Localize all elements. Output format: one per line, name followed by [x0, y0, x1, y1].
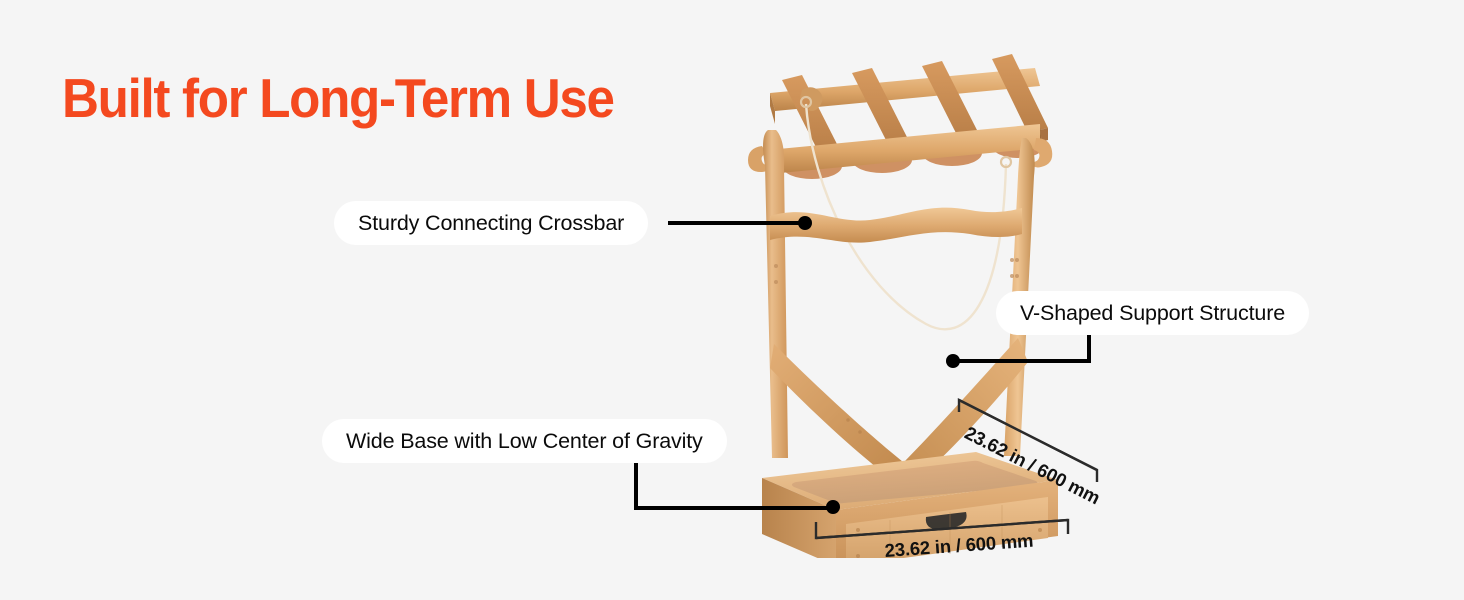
page-title: Built for Long-Term Use — [62, 66, 614, 130]
callout-crossbar[interactable]: Sturdy Connecting Crossbar — [334, 201, 648, 245]
v-support-left — [770, 344, 908, 478]
leader-dot-base — [826, 500, 840, 514]
left-post — [763, 130, 788, 458]
dimension-depth: 23.62 in / 600 mm — [955, 396, 1130, 486]
callout-vsupport-label: V-Shaped Support Structure — [1020, 301, 1285, 326]
leader-dot-vsupport — [946, 354, 960, 368]
callout-crossbar-label: Sturdy Connecting Crossbar — [358, 211, 624, 236]
callout-base[interactable]: Wide Base with Low Center of Gravity — [322, 419, 727, 463]
infographic-canvas: Built for Long-Term Use — [0, 0, 1464, 600]
leader-dot-crossbar — [798, 216, 812, 230]
leader-line-vsupport-run — [957, 359, 1091, 363]
callout-base-label: Wide Base with Low Center of Gravity — [346, 429, 703, 454]
leader-line-crossbar — [668, 221, 806, 225]
dimension-width: 23.62 in / 600 mm — [806, 518, 1081, 573]
callout-vsupport[interactable]: V-Shaped Support Structure — [996, 291, 1309, 335]
leader-line-base-stem — [634, 461, 638, 509]
leader-line-base-run — [634, 506, 834, 510]
